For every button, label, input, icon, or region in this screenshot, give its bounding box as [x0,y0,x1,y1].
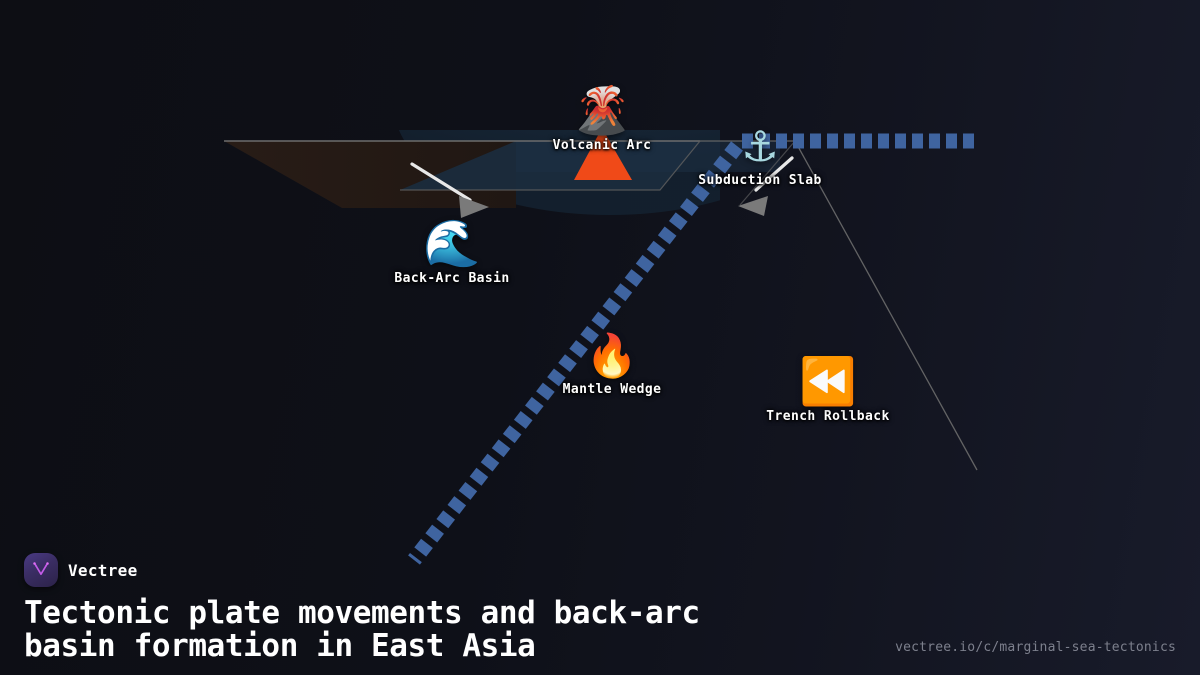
diagram-canvas: 🌋 Volcanic Arc ⚓ Subduction Slab 🌊 Back-… [0,0,1200,675]
page-title: Tectonic plate movements and back-arc ba… [24,597,904,664]
wave-icon: 🌊 [423,220,480,266]
fire-icon: 🔥 [586,335,638,377]
node-label-trench-rollback: Trench Rollback [766,409,889,424]
anchor-icon: ⚓ [741,126,779,168]
node-mantle-wedge[interactable]: 🔥 Mantle Wedge [563,335,662,397]
brand-name: Vectree [68,561,138,580]
footer: Vectree Tectonic plate movements and bac… [0,535,1200,675]
node-volcanic-arc[interactable]: 🌋 Volcanic Arc [553,87,652,153]
source-url: vectree.io/c/marginal-sea-tectonics [895,640,1176,655]
trench-rollback-arrow-head [738,196,768,216]
node-label-subduction-slab: Subduction Slab [698,173,821,188]
node-back-arc-basin[interactable]: 🌊 Back-Arc Basin [394,220,509,286]
node-label-back-arc-basin: Back-Arc Basin [394,271,509,286]
brand: Vectree [24,553,138,587]
node-subduction-slab[interactable]: ⚓ Subduction Slab [698,126,821,188]
volcano-icon: 🌋 [573,87,630,133]
vectree-logo-icon [24,553,58,587]
node-label-mantle-wedge: Mantle Wedge [563,382,662,397]
node-label-volcanic-arc: Volcanic Arc [553,138,652,153]
node-trench-rollback[interactable]: ⏪ Trench Rollback [766,358,889,424]
rewind-icon: ⏪ [799,358,856,404]
